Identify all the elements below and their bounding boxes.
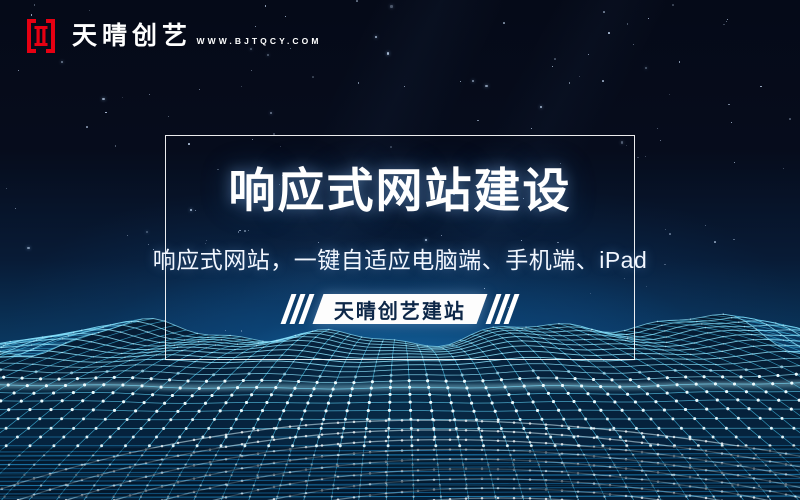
hero-subtitle: 响应式网站，一键自适应电脑端、手机端、iPad	[153, 241, 648, 275]
slash-mark-right-icon	[489, 294, 516, 324]
page-title: 响应式网站建设	[229, 167, 572, 214]
hero-badge[interactable]: 天晴创艺建站	[313, 294, 488, 324]
brand-url: WWW.BJTQCY.COM	[196, 36, 321, 46]
brand-name: 天晴创艺	[72, 22, 192, 50]
bracket-monogram-icon	[22, 17, 60, 55]
hero-badge-group: 天晴创艺建站	[284, 293, 516, 325]
hero-badge-label: 天晴创艺建站	[334, 295, 466, 324]
hero-banner: 响应式网站建设 响应式网站，一键自适应电脑端、手机端、iPad 天晴创艺建站	[0, 0, 800, 500]
slash-mark-left-icon	[284, 294, 311, 324]
hero-content: 响应式网站建设 响应式网站，一键自适应电脑端、手机端、iPad 天晴创艺建站	[0, 135, 800, 360]
brand-logo[interactable]: 天晴创艺 WWW.BJTQCY.COM	[22, 17, 322, 55]
